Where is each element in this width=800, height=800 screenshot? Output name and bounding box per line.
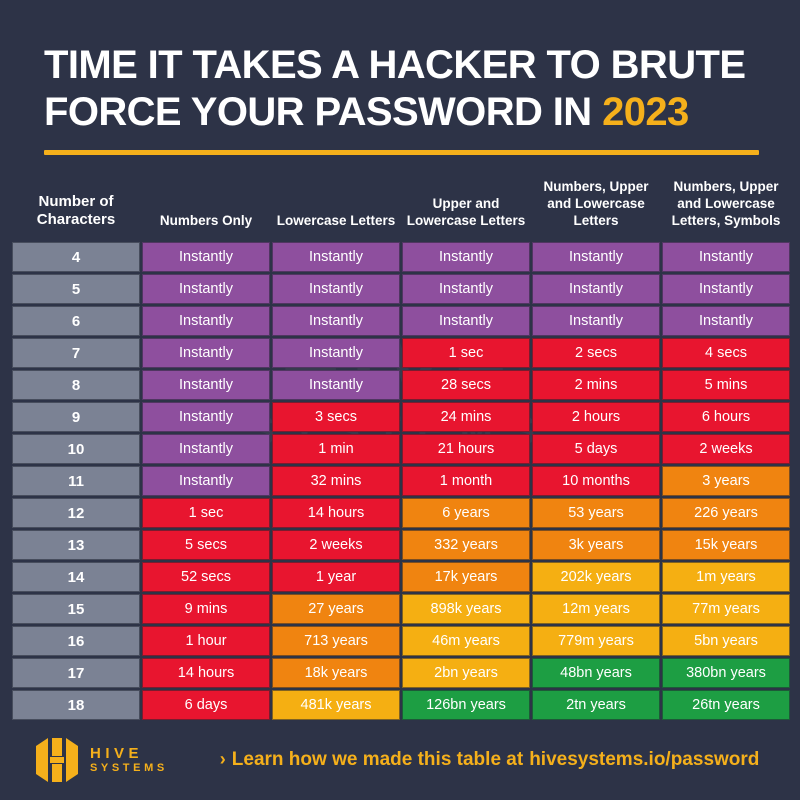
cell-crack-time: 2tn years bbox=[532, 690, 660, 720]
cell-crack-time: Instantly bbox=[272, 338, 400, 368]
cell-crack-time: Instantly bbox=[402, 242, 530, 272]
cell-character-count: 4 bbox=[12, 242, 140, 272]
cell-crack-time: 24 mins bbox=[402, 402, 530, 432]
cell-crack-time: 17k years bbox=[402, 562, 530, 592]
cell-crack-time: 5 mins bbox=[662, 370, 790, 400]
cell-crack-time: 14 hours bbox=[272, 498, 400, 528]
table-row: 159 mins27 years898k years12m years77m y… bbox=[12, 594, 790, 624]
cell-crack-time: 21 hours bbox=[402, 434, 530, 464]
cell-crack-time: 53 years bbox=[532, 498, 660, 528]
cell-crack-time: Instantly bbox=[272, 306, 400, 336]
cell-crack-time: Instantly bbox=[142, 242, 270, 272]
cell-crack-time: Instantly bbox=[142, 338, 270, 368]
cell-crack-time: 1 hour bbox=[142, 626, 270, 656]
cell-crack-time: 713 years bbox=[272, 626, 400, 656]
cell-crack-time: 18k years bbox=[272, 658, 400, 688]
cell-crack-time: Instantly bbox=[142, 370, 270, 400]
cell-crack-time: Instantly bbox=[142, 466, 270, 496]
password-strength-table: Number of Characters Numbers Only Lowerc… bbox=[10, 173, 792, 722]
cell-crack-time: Instantly bbox=[402, 274, 530, 304]
cell-character-count: 18 bbox=[12, 690, 140, 720]
hive-hexagon-logo-icon bbox=[34, 733, 80, 787]
table-row: 135 secs2 weeks332 years3k years15k year… bbox=[12, 530, 790, 560]
cell-crack-time: 27 years bbox=[272, 594, 400, 624]
cell-character-count: 9 bbox=[12, 402, 140, 432]
cell-crack-time: Instantly bbox=[142, 306, 270, 336]
cell-character-count: 14 bbox=[12, 562, 140, 592]
cell-crack-time: 1 year bbox=[272, 562, 400, 592]
cell-crack-time: Instantly bbox=[532, 242, 660, 272]
table-row: 161 hour713 years46m years779m years5bn … bbox=[12, 626, 790, 656]
column-header-number-of-characters: Number of Characters bbox=[12, 175, 140, 240]
footer-cta-text: Learn how we made this table at bbox=[232, 749, 523, 771]
cell-crack-time: 5bn years bbox=[662, 626, 790, 656]
hive-systems-logo[interactable]: HIVE SYSTEMS bbox=[34, 733, 168, 787]
cell-crack-time: Instantly bbox=[142, 402, 270, 432]
cell-crack-time: 48bn years bbox=[532, 658, 660, 688]
cell-crack-time: Instantly bbox=[402, 306, 530, 336]
cell-crack-time: 6 years bbox=[402, 498, 530, 528]
cell-crack-time: Instantly bbox=[662, 242, 790, 272]
cell-crack-time: 126bn years bbox=[402, 690, 530, 720]
cell-crack-time: Instantly bbox=[532, 274, 660, 304]
table-row: 8InstantlyInstantly28 secs2 mins5 mins bbox=[12, 370, 790, 400]
cell-crack-time: 332 years bbox=[402, 530, 530, 560]
cell-crack-time: 26tn years bbox=[662, 690, 790, 720]
cell-character-count: 17 bbox=[12, 658, 140, 688]
cell-crack-time: 28 secs bbox=[402, 370, 530, 400]
cell-crack-time: 2 weeks bbox=[662, 434, 790, 464]
password-strength-table-wrapper: Number of Characters Numbers Only Lowerc… bbox=[0, 155, 800, 722]
cell-crack-time: 779m years bbox=[532, 626, 660, 656]
cell-crack-time: 2 secs bbox=[532, 338, 660, 368]
table-row: 11Instantly32 mins1 month10 months3 year… bbox=[12, 466, 790, 496]
cell-crack-time: Instantly bbox=[142, 274, 270, 304]
cell-crack-time: 52 secs bbox=[142, 562, 270, 592]
cell-crack-time: 898k years bbox=[402, 594, 530, 624]
table-row: 6InstantlyInstantlyInstantlyInstantlyIns… bbox=[12, 306, 790, 336]
hive-systems-wordmark: HIVE SYSTEMS bbox=[90, 746, 168, 775]
cell-crack-time: 1 sec bbox=[142, 498, 270, 528]
logo-hive-text: HIVE bbox=[90, 746, 168, 763]
cell-crack-time: 9 mins bbox=[142, 594, 270, 624]
cell-crack-time: 2bn years bbox=[402, 658, 530, 688]
cell-crack-time: 77m years bbox=[662, 594, 790, 624]
table-row: 121 sec14 hours6 years53 years226 years bbox=[12, 498, 790, 528]
cell-crack-time: Instantly bbox=[662, 306, 790, 336]
column-header-numbers-only: Numbers Only bbox=[142, 175, 270, 240]
column-header-upper-lowercase-letters: Upper and Lowercase Letters bbox=[402, 175, 530, 240]
cell-character-count: 13 bbox=[12, 530, 140, 560]
cell-character-count: 6 bbox=[12, 306, 140, 336]
cell-crack-time: 3k years bbox=[532, 530, 660, 560]
cell-crack-time: 380bn years bbox=[662, 658, 790, 688]
cell-crack-time: Instantly bbox=[532, 306, 660, 336]
footer: HIVE SYSTEMS › Learn how we made this ta… bbox=[0, 720, 800, 800]
table-row: 9Instantly3 secs24 mins2 hours6 hours bbox=[12, 402, 790, 432]
table-row: 186 days481k years126bn years2tn years26… bbox=[12, 690, 790, 720]
logo-systems-text: SYSTEMS bbox=[90, 762, 168, 774]
cell-crack-time: 10 months bbox=[532, 466, 660, 496]
cell-crack-time: 5 secs bbox=[142, 530, 270, 560]
cell-crack-time: 32 mins bbox=[272, 466, 400, 496]
chevron-right-icon: › bbox=[220, 749, 226, 770]
cell-crack-time: 4 secs bbox=[662, 338, 790, 368]
cell-character-count: 15 bbox=[12, 594, 140, 624]
cell-character-count: 5 bbox=[12, 274, 140, 304]
cell-crack-time: 46m years bbox=[402, 626, 530, 656]
cell-crack-time: Instantly bbox=[142, 434, 270, 464]
table-row: 1452 secs1 year17k years202k years1m yea… bbox=[12, 562, 790, 592]
column-header-numbers-upper-lowercase-letters-symbols: Numbers, Upper and Lowercase Letters, Sy… bbox=[662, 175, 790, 240]
title-year: 2023 bbox=[602, 90, 689, 134]
cell-crack-time: 6 hours bbox=[662, 402, 790, 432]
cell-character-count: 12 bbox=[12, 498, 140, 528]
cell-character-count: 16 bbox=[12, 626, 140, 656]
table-header: Number of Characters Numbers Only Lowerc… bbox=[12, 175, 790, 240]
table-row: 1714 hours18k years2bn years48bn years38… bbox=[12, 658, 790, 688]
table-row: 10Instantly1 min21 hours5 days2 weeks bbox=[12, 434, 790, 464]
cell-crack-time: 226 years bbox=[662, 498, 790, 528]
cell-crack-time: 5 days bbox=[532, 434, 660, 464]
cell-crack-time: 12m years bbox=[532, 594, 660, 624]
cell-crack-time: 1 month bbox=[402, 466, 530, 496]
cell-crack-time: 1 sec bbox=[402, 338, 530, 368]
cell-character-count: 7 bbox=[12, 338, 140, 368]
cell-crack-time: 1 min bbox=[272, 434, 400, 464]
cell-crack-time: Instantly bbox=[272, 242, 400, 272]
cell-crack-time: 3 years bbox=[662, 466, 790, 496]
page-title-line-1: TIME IT TAKES A HACKER TO BRUTE bbox=[44, 42, 756, 89]
page-title-line-2: FORCE YOUR PASSWORD IN 2023 bbox=[44, 89, 756, 136]
footer-cta-url[interactable]: hivesystems.io/password bbox=[529, 749, 759, 771]
table-body: 4InstantlyInstantlyInstantlyInstantlyIns… bbox=[12, 242, 790, 720]
cell-crack-time: 2 weeks bbox=[272, 530, 400, 560]
column-header-numbers-upper-lowercase-letters: Numbers, Upper and Lowercase Letters bbox=[532, 175, 660, 240]
table-row: 5InstantlyInstantlyInstantlyInstantlyIns… bbox=[12, 274, 790, 304]
cell-crack-time: Instantly bbox=[272, 274, 400, 304]
cell-crack-time: Instantly bbox=[272, 370, 400, 400]
cell-crack-time: 202k years bbox=[532, 562, 660, 592]
cell-crack-time: 481k years bbox=[272, 690, 400, 720]
cell-crack-time: 6 days bbox=[142, 690, 270, 720]
cell-crack-time: 15k years bbox=[662, 530, 790, 560]
table-header-row: Number of Characters Numbers Only Lowerc… bbox=[12, 175, 790, 240]
page-title-line-2-prefix: FORCE YOUR PASSWORD IN bbox=[44, 90, 602, 134]
cell-crack-time: 2 hours bbox=[532, 402, 660, 432]
column-header-lowercase-letters: Lowercase Letters bbox=[272, 175, 400, 240]
cell-character-count: 8 bbox=[12, 370, 140, 400]
footer-cta-link[interactable]: › Learn how we made this table at hivesy… bbox=[220, 749, 760, 771]
cell-character-count: 10 bbox=[12, 434, 140, 464]
title-block: TIME IT TAKES A HACKER TO BRUTE FORCE YO… bbox=[0, 0, 800, 155]
cell-crack-time: 14 hours bbox=[142, 658, 270, 688]
table-row: 4InstantlyInstantlyInstantlyInstantlyIns… bbox=[12, 242, 790, 272]
cell-crack-time: 3 secs bbox=[272, 402, 400, 432]
table-row: 7InstantlyInstantly1 sec2 secs4 secs bbox=[12, 338, 790, 368]
cell-crack-time: Instantly bbox=[662, 274, 790, 304]
cell-character-count: 11 bbox=[12, 466, 140, 496]
cell-crack-time: 2 mins bbox=[532, 370, 660, 400]
cell-crack-time: 1m years bbox=[662, 562, 790, 592]
